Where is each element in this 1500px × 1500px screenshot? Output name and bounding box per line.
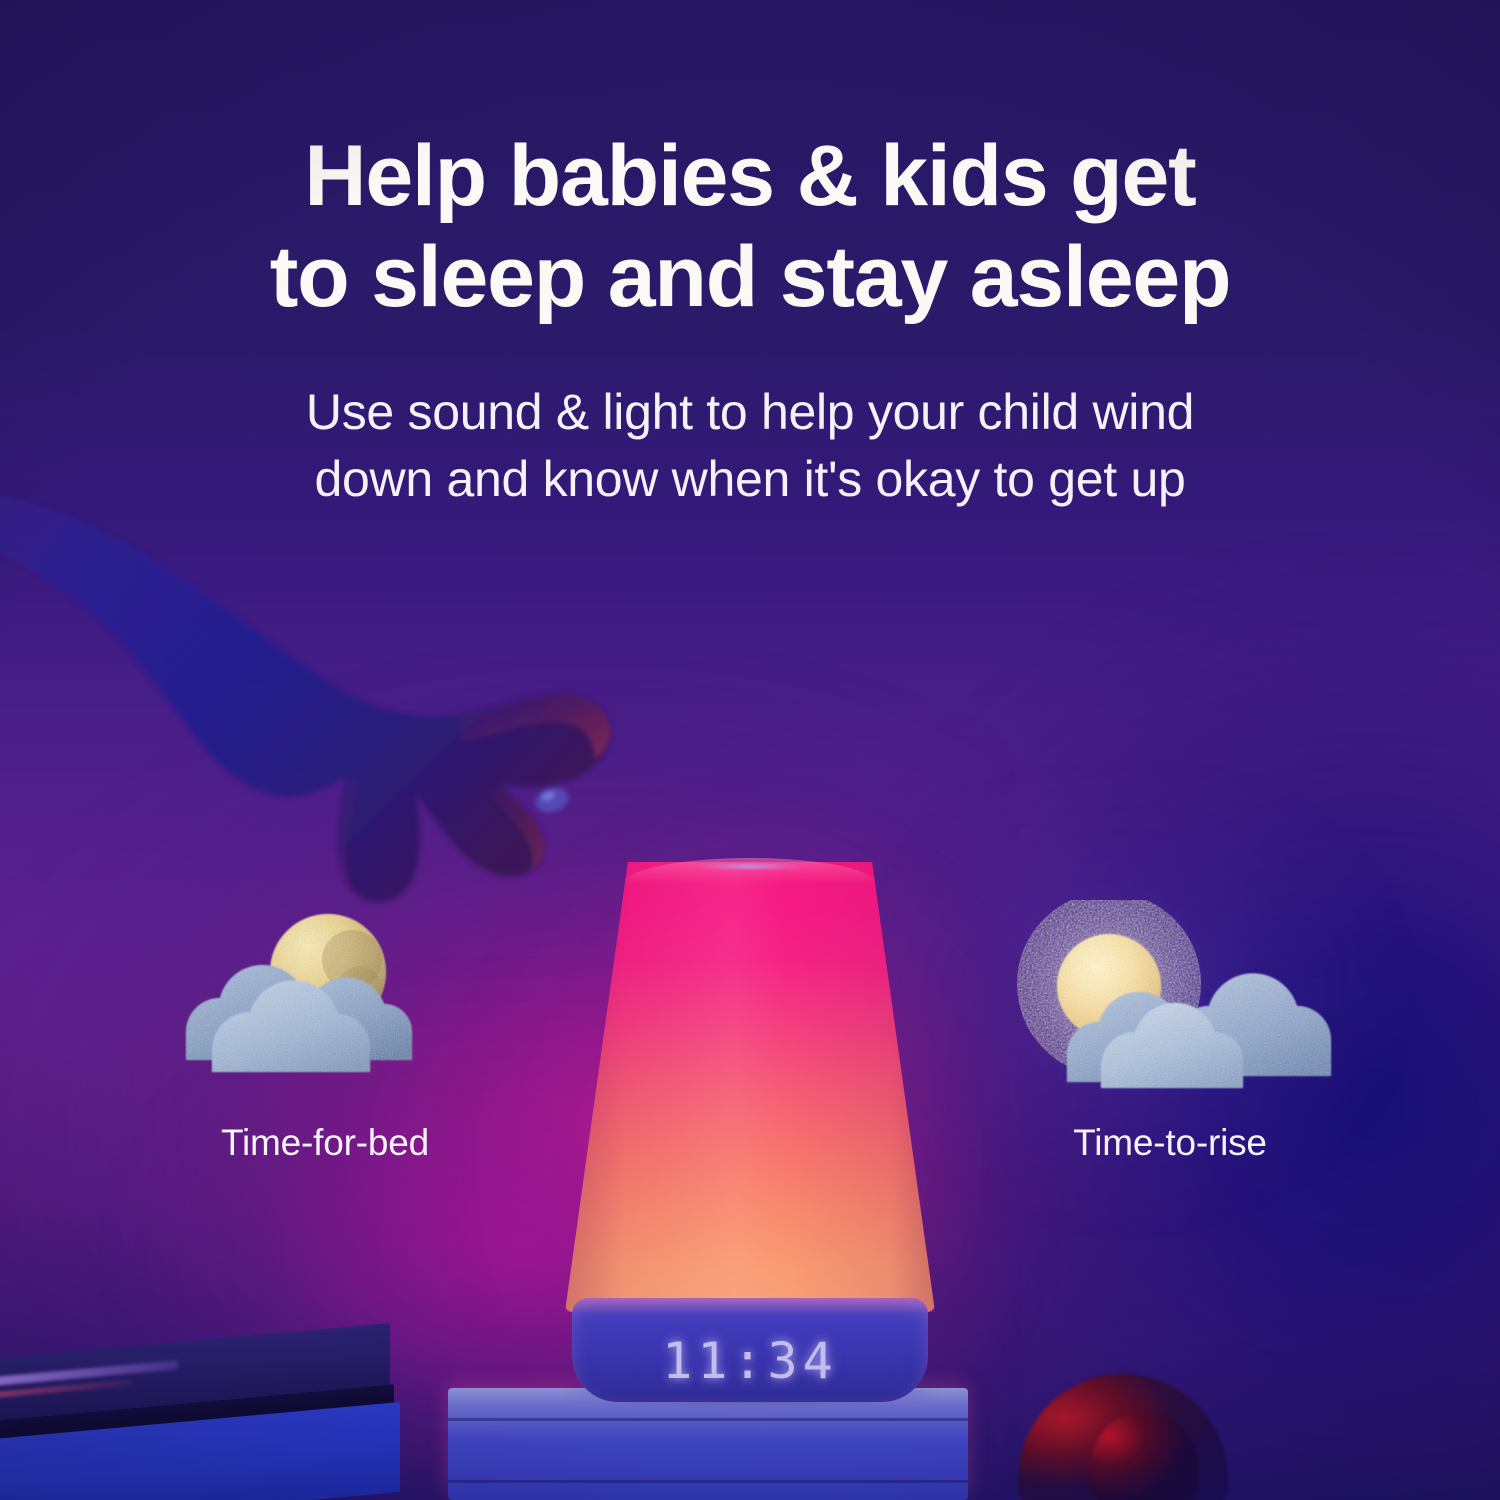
headline: Help babies & kids get to sleep and stay…	[0, 126, 1500, 327]
feature-label-time-to-rise: Time-to-rise	[1005, 1122, 1335, 1164]
feature-time-to-rise: Time-to-rise	[1005, 900, 1335, 1164]
sun-behind-clouds-icon	[1005, 900, 1335, 1100]
lamp-base[interactable]: 11:34	[572, 1298, 928, 1402]
lamp-top-seam	[695, 864, 805, 869]
night-light-device[interactable]: 11:34	[565, 862, 935, 1402]
stacked-books	[0, 1342, 400, 1500]
marketing-image-canvas: Help babies & kids get to sleep and stay…	[0, 0, 1500, 1500]
subheadline: Use sound & light to help your child win…	[0, 379, 1500, 512]
headline-line-2: to sleep and stay asleep	[270, 229, 1231, 325]
feature-label-time-for-bed: Time-for-bed	[160, 1122, 490, 1164]
lamp-top-cap	[624, 858, 876, 884]
clock-display: 11:34	[572, 1332, 928, 1390]
subheadline-line-1: Use sound & light to help your child win…	[306, 384, 1194, 440]
hand-silhouette	[0, 470, 720, 920]
plush-toy	[1018, 1368, 1248, 1500]
copy-block: Help babies & kids get to sleep and stay…	[0, 0, 1500, 512]
feature-time-for-bed: Time-for-bed	[160, 900, 490, 1164]
subheadline-line-2: down and know when it's okay to get up	[315, 451, 1186, 507]
headline-line-1: Help babies & kids get	[304, 128, 1195, 224]
moon-behind-clouds-icon	[160, 900, 490, 1100]
lamp-dome-shading	[565, 862, 935, 1312]
book-plinth	[448, 1388, 968, 1500]
